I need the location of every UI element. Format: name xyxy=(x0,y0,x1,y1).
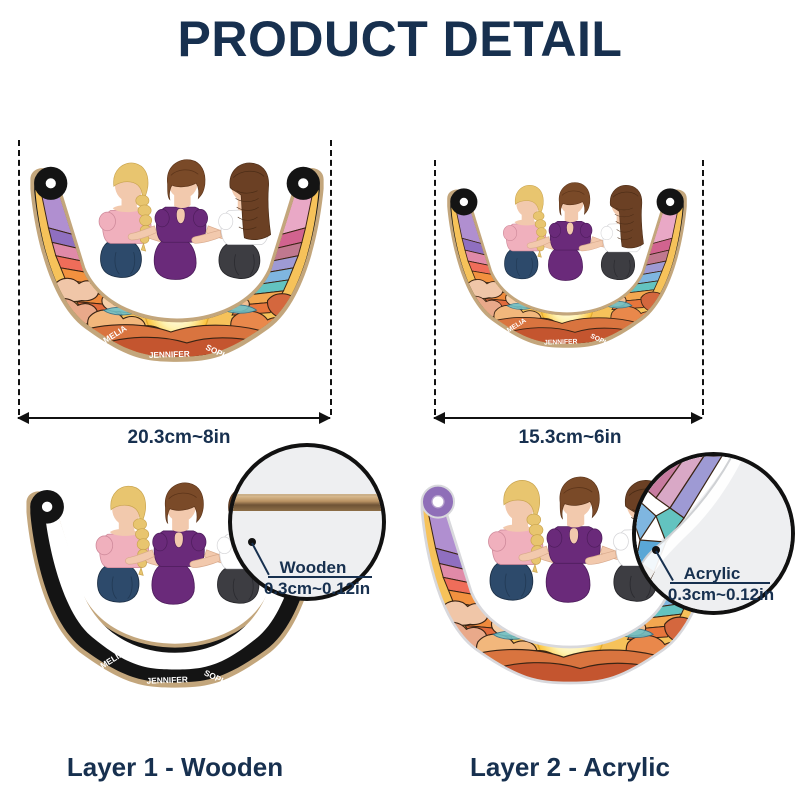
guide-right xyxy=(702,160,704,415)
panel-bottom-right: Acrylic 0.3cm~0.12in Layer 2 - Acrylic xyxy=(410,470,770,780)
callout-material-label: Wooden xyxy=(258,558,368,578)
callout-divider xyxy=(670,582,770,584)
product-detail-page: PRODUCT DETAIL xyxy=(0,0,800,800)
engraved-name-2: JENNIFER xyxy=(544,338,578,346)
guide-left xyxy=(18,140,20,415)
suncatcher-assembled-large: AMELIA JENNIFER SOPHIA xyxy=(24,148,330,378)
page-title: PRODUCT DETAIL xyxy=(0,14,800,64)
callout-thickness-value: 0.3cm~0.12in xyxy=(648,585,794,605)
engraved-name-2: JENNIFER xyxy=(149,350,190,360)
panel-bottom-left: AMELIA JENNIFER SOPHIA Wooden 0.3cm~0.12… xyxy=(20,480,360,780)
dimension-line-top-left xyxy=(18,417,330,419)
layer-caption-acrylic: Layer 2 - Acrylic xyxy=(410,752,730,783)
suncatcher-svg: AMELIA JENNIFER SOPHIA xyxy=(442,172,692,362)
wood-edge-cross-section xyxy=(228,494,386,511)
callout-divider xyxy=(268,576,372,578)
arrow-right-icon xyxy=(319,412,331,424)
layer-caption-wooden: Layer 1 - Wooden xyxy=(10,752,340,783)
panel-top-right: AMELIA JENNIFER SOPHIA 15.3cm~6in xyxy=(430,160,710,440)
dimension-line-top-right xyxy=(434,417,702,419)
arrow-left-icon xyxy=(433,412,445,424)
suncatcher-assembled-small: AMELIA JENNIFER SOPHIA xyxy=(442,172,692,362)
guide-left xyxy=(434,160,436,415)
dimension-label-top-right: 15.3cm~6in xyxy=(430,427,710,449)
panel-top-left: AMELIA JENNIFER SOPHIA 20.3cm~8in xyxy=(14,140,344,440)
callout-thickness-value: 0.3cm~0.12in xyxy=(242,579,392,599)
engraved-name-2: JENNIFER xyxy=(146,674,188,685)
guide-right xyxy=(330,140,332,415)
arrow-right-icon xyxy=(691,412,703,424)
suncatcher-svg: AMELIA JENNIFER SOPHIA xyxy=(24,148,330,378)
arrow-left-icon xyxy=(17,412,29,424)
callout-material-label: Acrylic xyxy=(662,564,762,584)
